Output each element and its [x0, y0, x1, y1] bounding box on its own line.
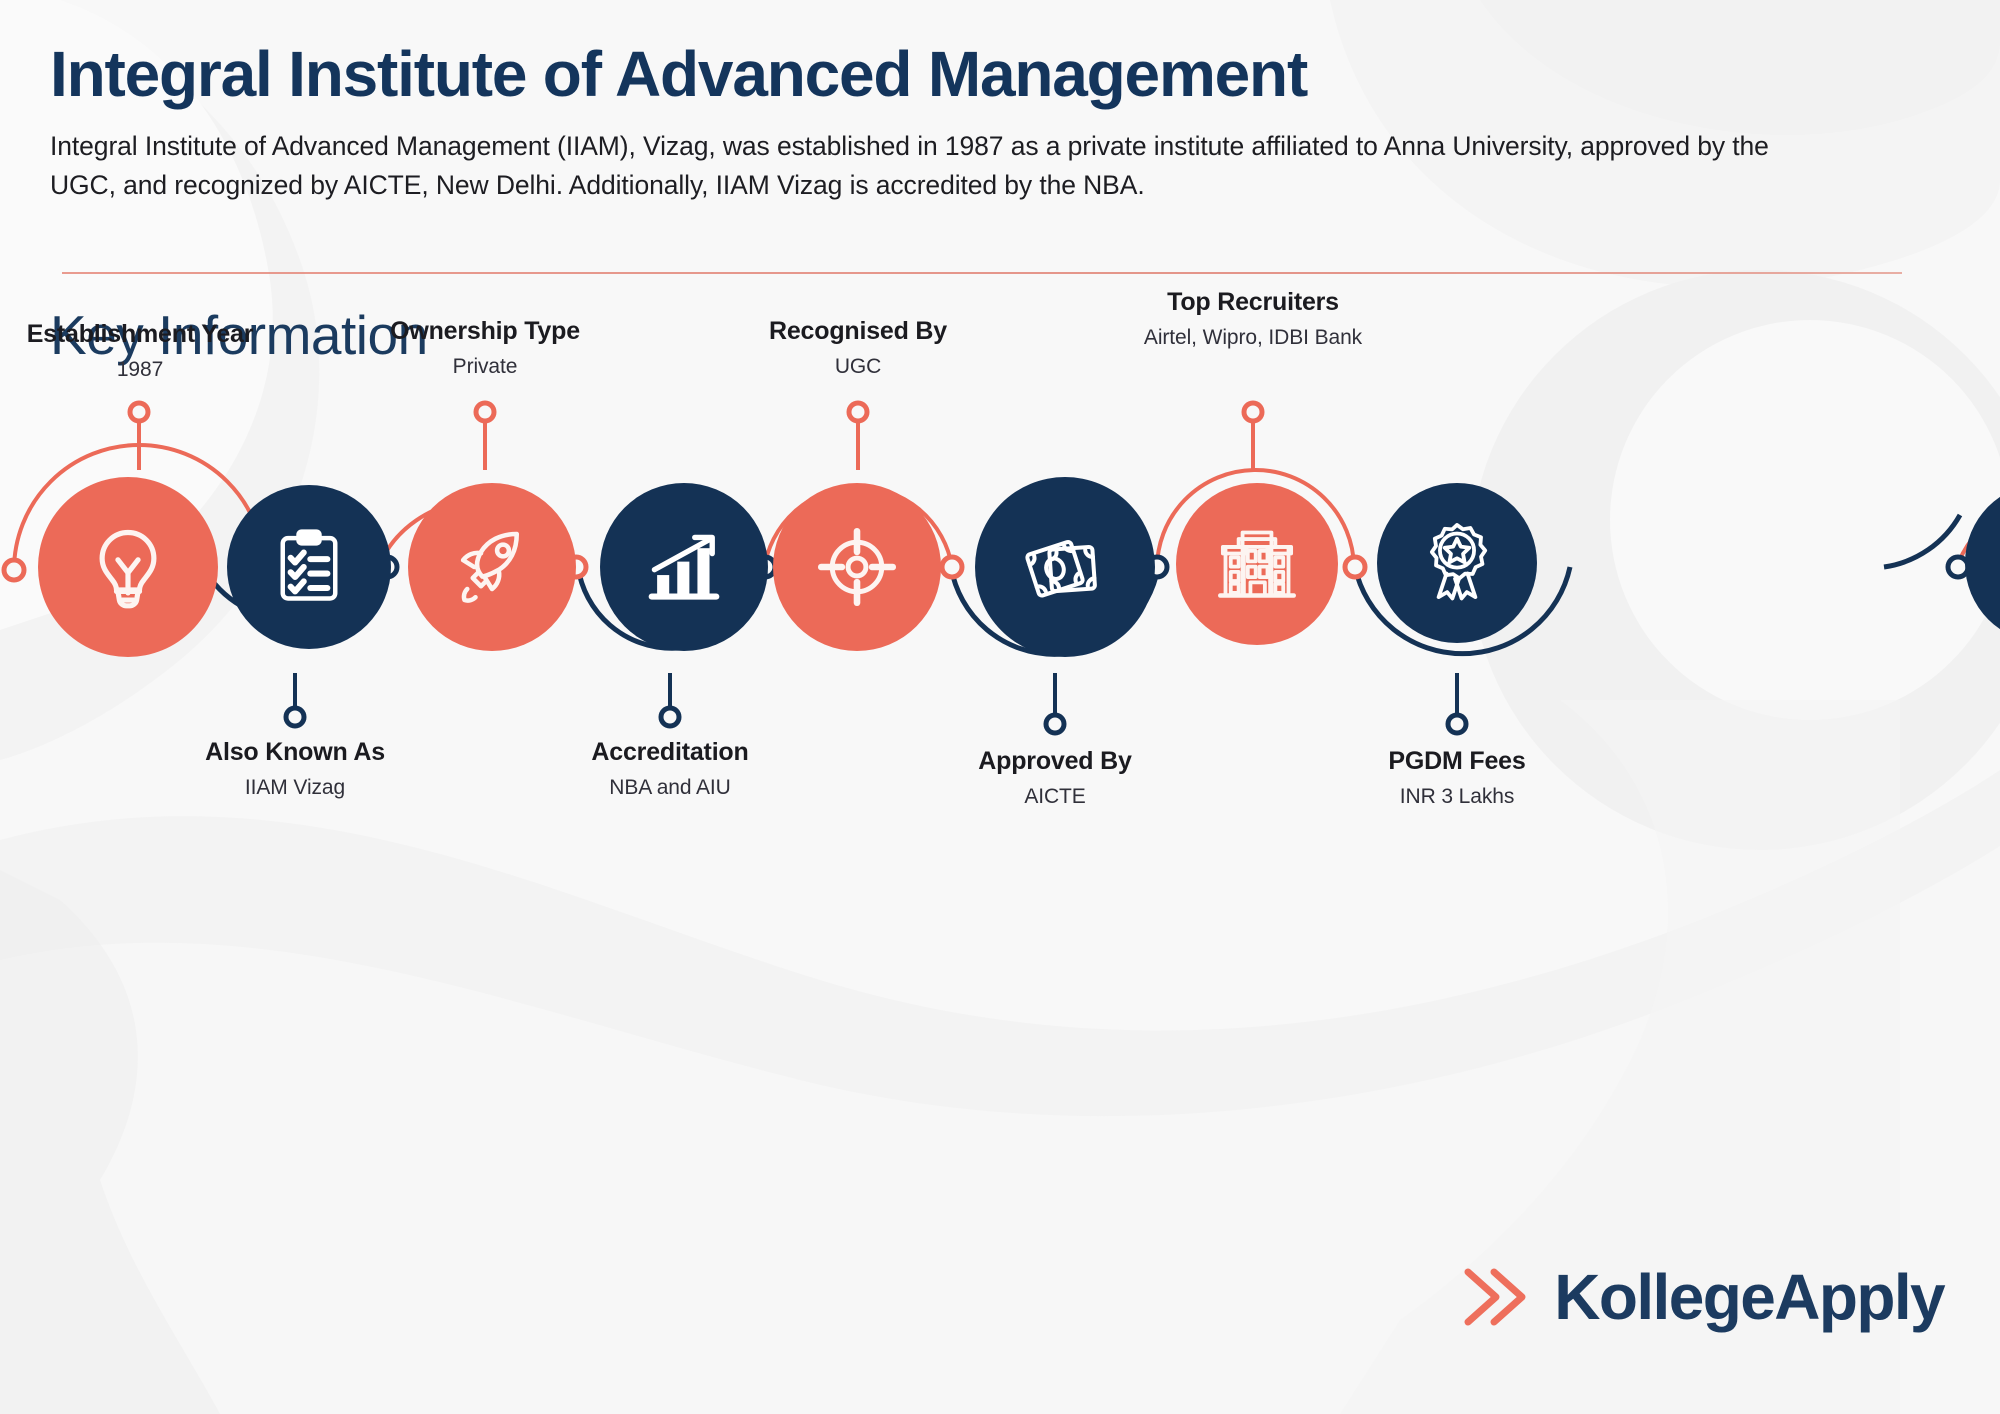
double-chevron-icon: [1458, 1262, 1532, 1332]
award-badge-icon: [1415, 521, 1499, 605]
timeline-node-top-recruiters[interactable]: [1176, 483, 1338, 645]
label-top-recruiters: Top Recruiters Airtel, Wipro, IDBI Bank: [1113, 288, 1393, 350]
lightbulb-icon: [82, 521, 174, 613]
timeline-node-establishment-year[interactable]: [38, 477, 218, 657]
label-ownership-type: Ownership Type Private: [345, 317, 625, 379]
timeline-node-accreditation[interactable]: [600, 483, 768, 651]
label-title: Also Known As: [155, 738, 435, 767]
timeline-node-recognised-by[interactable]: [773, 483, 941, 651]
timeline-node-ownership-type[interactable]: [408, 483, 576, 651]
label-title: Accreditation: [530, 738, 810, 767]
label-title: Approved By: [915, 747, 1195, 776]
label-title: Establishment Year: [0, 320, 280, 349]
timeline-node-also-known-as[interactable]: [227, 485, 391, 649]
label-value: UGC: [718, 355, 998, 379]
label-title: PGDM Fees: [1317, 747, 1597, 776]
header-block: Integral Institute of Advanced Managemen…: [50, 40, 1950, 204]
infographic-canvas: Integral Institute of Advanced Managemen…: [0, 0, 2000, 1414]
logo-text: KollegeApply: [1554, 1260, 1944, 1334]
bar-chart-growth-icon: [641, 524, 727, 610]
label-value: Private: [345, 355, 625, 379]
label-value: INR 3 Lakhs: [1317, 785, 1597, 809]
label-value: IIAM Vizag: [155, 776, 435, 800]
label-value: 1987: [0, 358, 280, 382]
label-establishment-year: Establishment Year 1987: [0, 320, 280, 382]
label-accreditation: Accreditation NBA and AIU: [530, 738, 810, 800]
label-approved-by: Approved By AICTE: [915, 747, 1195, 809]
timeline-node-approved-by[interactable]: [975, 477, 1155, 657]
brand-logo[interactable]: KollegeApply: [1458, 1260, 1944, 1334]
label-value: Airtel, Wipro, IDBI Bank: [1113, 326, 1393, 350]
clipboard-checklist-icon: [267, 525, 351, 609]
header-divider: [62, 272, 1902, 274]
label-also-known-as: Also Known As IIAM Vizag: [155, 738, 435, 800]
label-value: NBA and AIU: [530, 776, 810, 800]
label-title: Top Recruiters: [1113, 288, 1393, 317]
label-recognised-by: Recognised By UGC: [718, 317, 998, 379]
rocket-icon: [448, 523, 536, 611]
building-icon: [1215, 522, 1299, 606]
label-value: AICTE: [915, 785, 1195, 809]
page-description: Integral Institute of Advanced Managemen…: [50, 127, 1830, 204]
timeline: Establishment Year 1987 Ownership Type P…: [0, 395, 2000, 895]
label-title: Ownership Type: [345, 317, 625, 346]
page-title: Integral Institute of Advanced Managemen…: [50, 40, 1950, 109]
target-icon: [813, 523, 901, 611]
label-pgdm-fees: PGDM Fees INR 3 Lakhs: [1317, 747, 1597, 809]
label-title: Recognised By: [718, 317, 998, 346]
timeline-node-pgdm-fees[interactable]: [1377, 483, 1537, 643]
money-notes-icon: [1019, 521, 1111, 613]
